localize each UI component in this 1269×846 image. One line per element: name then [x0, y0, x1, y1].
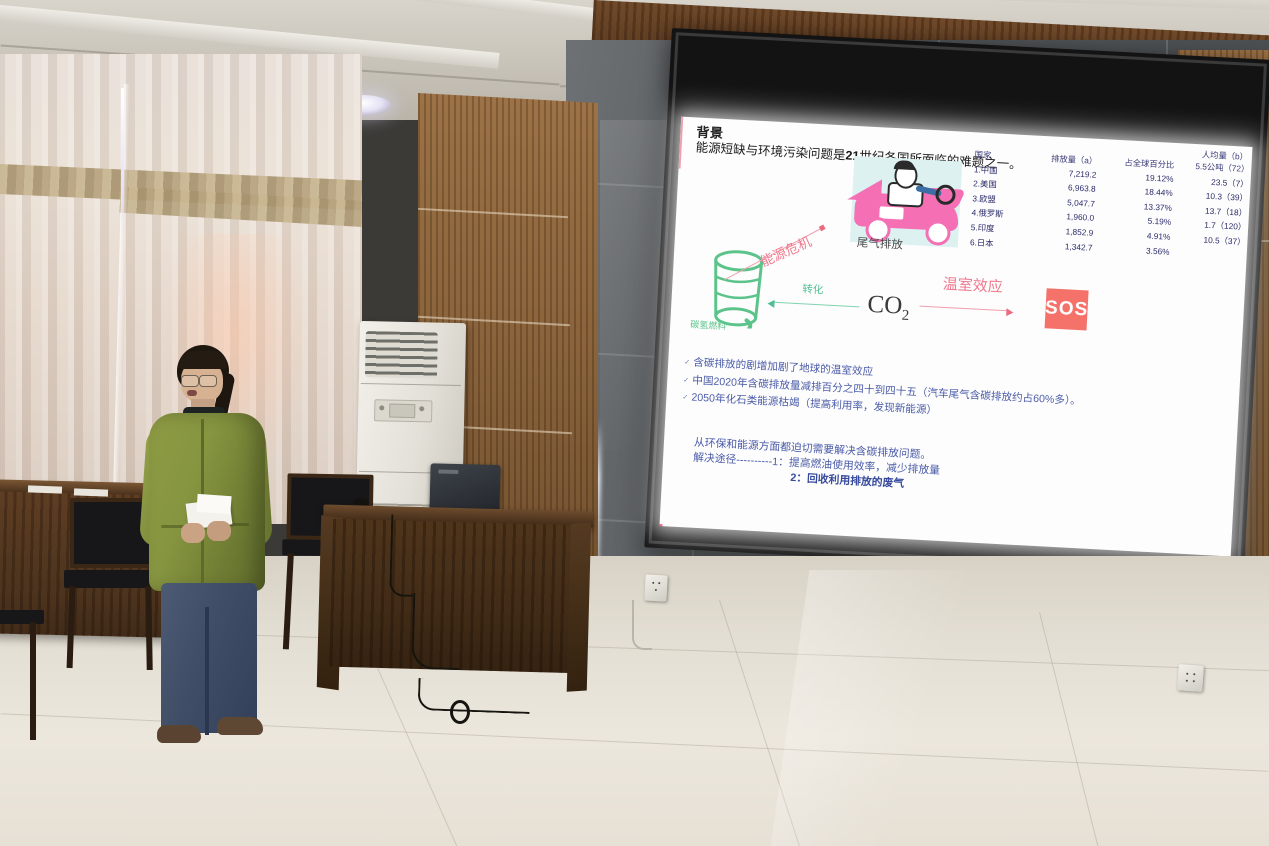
blue-jeans	[161, 583, 257, 733]
wall-outlet[interactable]	[1177, 664, 1204, 692]
hair-front	[179, 351, 227, 369]
cell-percapita: 10.3（39）	[1176, 188, 1248, 204]
cell-percapita: 23.5（7）	[1177, 174, 1249, 190]
ac-display	[389, 404, 415, 419]
cell-emissions: 1,960.0	[1029, 210, 1101, 226]
eyeglasses-right-lens	[199, 375, 217, 387]
curtain-edge-highlight	[121, 88, 124, 238]
jeans-seam	[205, 607, 209, 735]
co2-formula: CO2	[867, 291, 911, 325]
cell-share: 19.12%	[1102, 170, 1178, 186]
cell-country: 5.印度	[971, 221, 1029, 236]
outlet-hole	[1186, 673, 1188, 675]
cable-loop	[450, 700, 470, 724]
cell-emissions: 6,963.8	[1030, 180, 1102, 196]
label-conversion: 转化	[802, 281, 824, 297]
cell-percapita: 10.5（37）	[1174, 232, 1246, 248]
cell-country: 6.日本	[970, 236, 1028, 251]
greenhouse-arrow	[920, 306, 1010, 312]
table-header-emissions: 排放量（a）	[1032, 151, 1104, 167]
cell-emissions: 1,342.7	[1027, 239, 1099, 255]
power-cable	[389, 514, 417, 597]
outlet-hole	[658, 582, 660, 584]
table-header-percapita: 人均量（b）	[1202, 148, 1249, 162]
co2-subscript: 2	[901, 308, 909, 324]
left-shoe	[157, 725, 201, 743]
cell-share: 5.19%	[1100, 213, 1176, 229]
cell-emissions: 5,047.7	[1029, 195, 1101, 211]
subtitle-pre: 能源短缺与环境污染问题是	[695, 140, 846, 162]
label-hydrocarbon-fuel: 碳氢燃料	[690, 317, 727, 332]
eyeglasses-left-lens	[181, 375, 199, 387]
label-greenhouse-effect: 温室效应	[942, 273, 1003, 297]
conversion-arrow	[772, 302, 860, 308]
left-hand	[181, 523, 205, 543]
presenter-desk[interactable]	[321, 505, 594, 702]
chair-leg	[67, 586, 76, 668]
cell-country: 3.欧盟	[972, 192, 1030, 207]
ac-vent-grille	[365, 331, 438, 378]
laptop-logo	[438, 469, 458, 474]
outlet-hole	[655, 589, 657, 591]
cell-emissions: 1,852.9	[1028, 224, 1100, 240]
cell-share: 3.56%	[1098, 243, 1174, 259]
right-hand	[207, 521, 231, 541]
table-header-country: 国家	[974, 148, 1032, 163]
cell-country: 2.美国	[973, 177, 1031, 192]
cell-percapita: 1.7（120）	[1175, 217, 1247, 233]
ac-power-button[interactable]	[379, 405, 384, 410]
sos-badge: SOS	[1045, 288, 1089, 330]
floor-cable	[417, 678, 530, 714]
chair[interactable]	[0, 610, 46, 740]
cell-share: 18.44%	[1101, 184, 1177, 200]
paper-on-bench	[74, 488, 108, 496]
outlet-hole	[1193, 673, 1195, 675]
slide-closing-text: 从环保和能源方面都迫切需要解决含碳排放问题。 解决途径----------1：提…	[692, 436, 1174, 506]
outlet-cable	[632, 600, 652, 650]
label-energy-crisis: 能源危机	[757, 230, 814, 270]
cell-share: 13.37%	[1100, 199, 1176, 215]
woman-presenting	[135, 345, 305, 755]
outlet-hole	[1186, 680, 1188, 682]
wall-outlet[interactable]	[644, 574, 667, 601]
label-exhaust-emission: 尾气排放	[856, 236, 870, 251]
outlet-hole	[1193, 680, 1195, 682]
projection-screen[interactable]: 背景 能源短缺与环境污染问题是21世纪各国所面临的难题之一。 人均量（b） 国家…	[644, 28, 1269, 579]
chair-leg	[30, 622, 36, 740]
ac-mode-button[interactable]	[419, 406, 424, 411]
cell-country: 1.中国	[974, 163, 1032, 178]
conference-room-photo: 背景 能源短缺与环境污染问题是21世纪各国所面临的难题之一。 人均量（b） 国家…	[0, 0, 1269, 846]
cell-percapita: 13.7（18）	[1176, 203, 1248, 219]
table-header-share: 占全球百分比	[1103, 155, 1179, 171]
cell-country: 4.俄罗斯	[971, 207, 1029, 222]
power-cable	[411, 593, 461, 670]
cell-share: 4.91%	[1099, 228, 1175, 244]
paper-on-bench	[28, 485, 62, 493]
ac-control-panel[interactable]	[374, 399, 432, 422]
mouth	[187, 390, 197, 396]
printed-notes-page	[196, 494, 231, 514]
right-shoe	[217, 717, 263, 735]
chair-seat	[0, 610, 44, 624]
cell-emissions: 7,219.2	[1031, 166, 1103, 182]
outlet-hole	[652, 582, 654, 584]
presentation-slide: 背景 能源短缺与环境污染问题是21世纪各国所面临的难题之一。 人均量（b） 国家…	[659, 117, 1252, 557]
emissions-table: 人均量（b） 国家 排放量（a） 占全球百分比 5.5公吨（72） 1.中国 7…	[970, 148, 1250, 265]
co2-text: CO	[867, 291, 903, 320]
desk-side-panel	[567, 523, 591, 692]
slide-bullet-list: 含碳排放的剧增加剧了地球的温室效应 中国2020年含碳排放量减排百分之四十到四十…	[682, 355, 1184, 434]
